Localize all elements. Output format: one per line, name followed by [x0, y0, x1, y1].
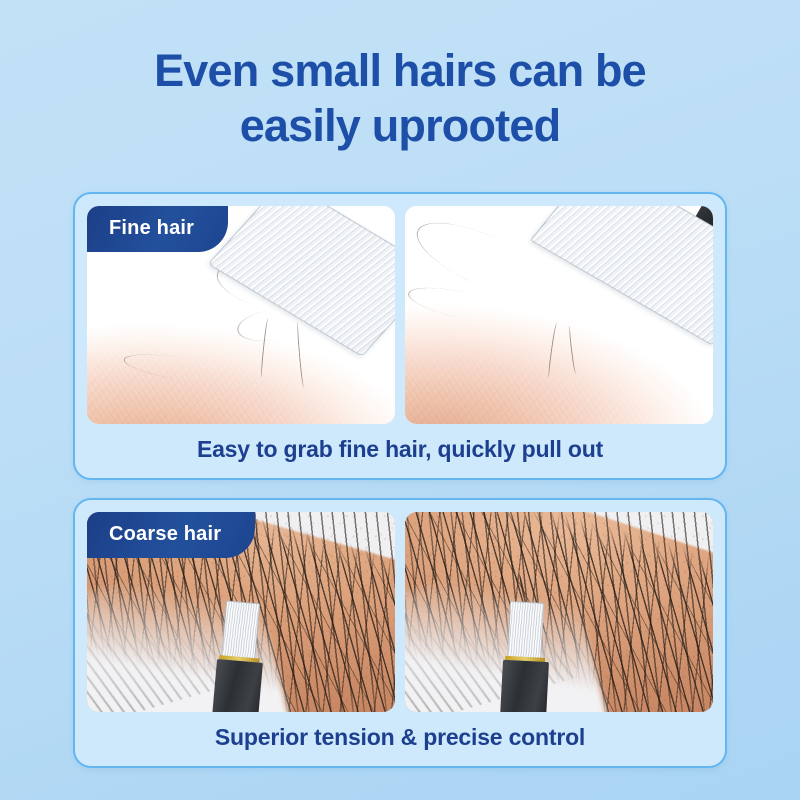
tweezer-tool [498, 601, 556, 712]
photo-panel-fine-2 [405, 206, 713, 424]
photo-panel-coarse-2 [405, 512, 713, 712]
photo-panel-fine-1: Fine hair [87, 206, 395, 424]
caption-fine-hair: Easy to grab fine hair, quickly pull out [87, 424, 713, 478]
page-title: Even small hairs can be easily uprooted [0, 0, 800, 154]
photo-panel-group-fine: Fine hair [87, 206, 713, 424]
badge-coarse-hair: Coarse hair [87, 512, 255, 558]
feature-card-fine-hair: Fine hair Easy to grab fine hair, quickl… [73, 192, 727, 480]
photo-coarse-hair-grip [405, 512, 713, 712]
photo-panel-group-coarse: Coarse hair [87, 512, 713, 712]
photo-panel-coarse-1: Coarse hair [87, 512, 395, 712]
tweezer-tool [210, 600, 272, 712]
badge-fine-hair: Fine hair [87, 206, 228, 252]
headline-line-1: Even small hairs can be [60, 44, 740, 99]
feature-card-list: Fine hair Easy to grab fine hair, quickl… [73, 192, 727, 768]
headline-line-2: easily uprooted [60, 99, 740, 154]
caption-coarse-hair: Superior tension & precise control [87, 712, 713, 766]
photo-fine-hair-pull [405, 206, 713, 424]
feature-card-coarse-hair: Coarse hair [73, 498, 727, 768]
